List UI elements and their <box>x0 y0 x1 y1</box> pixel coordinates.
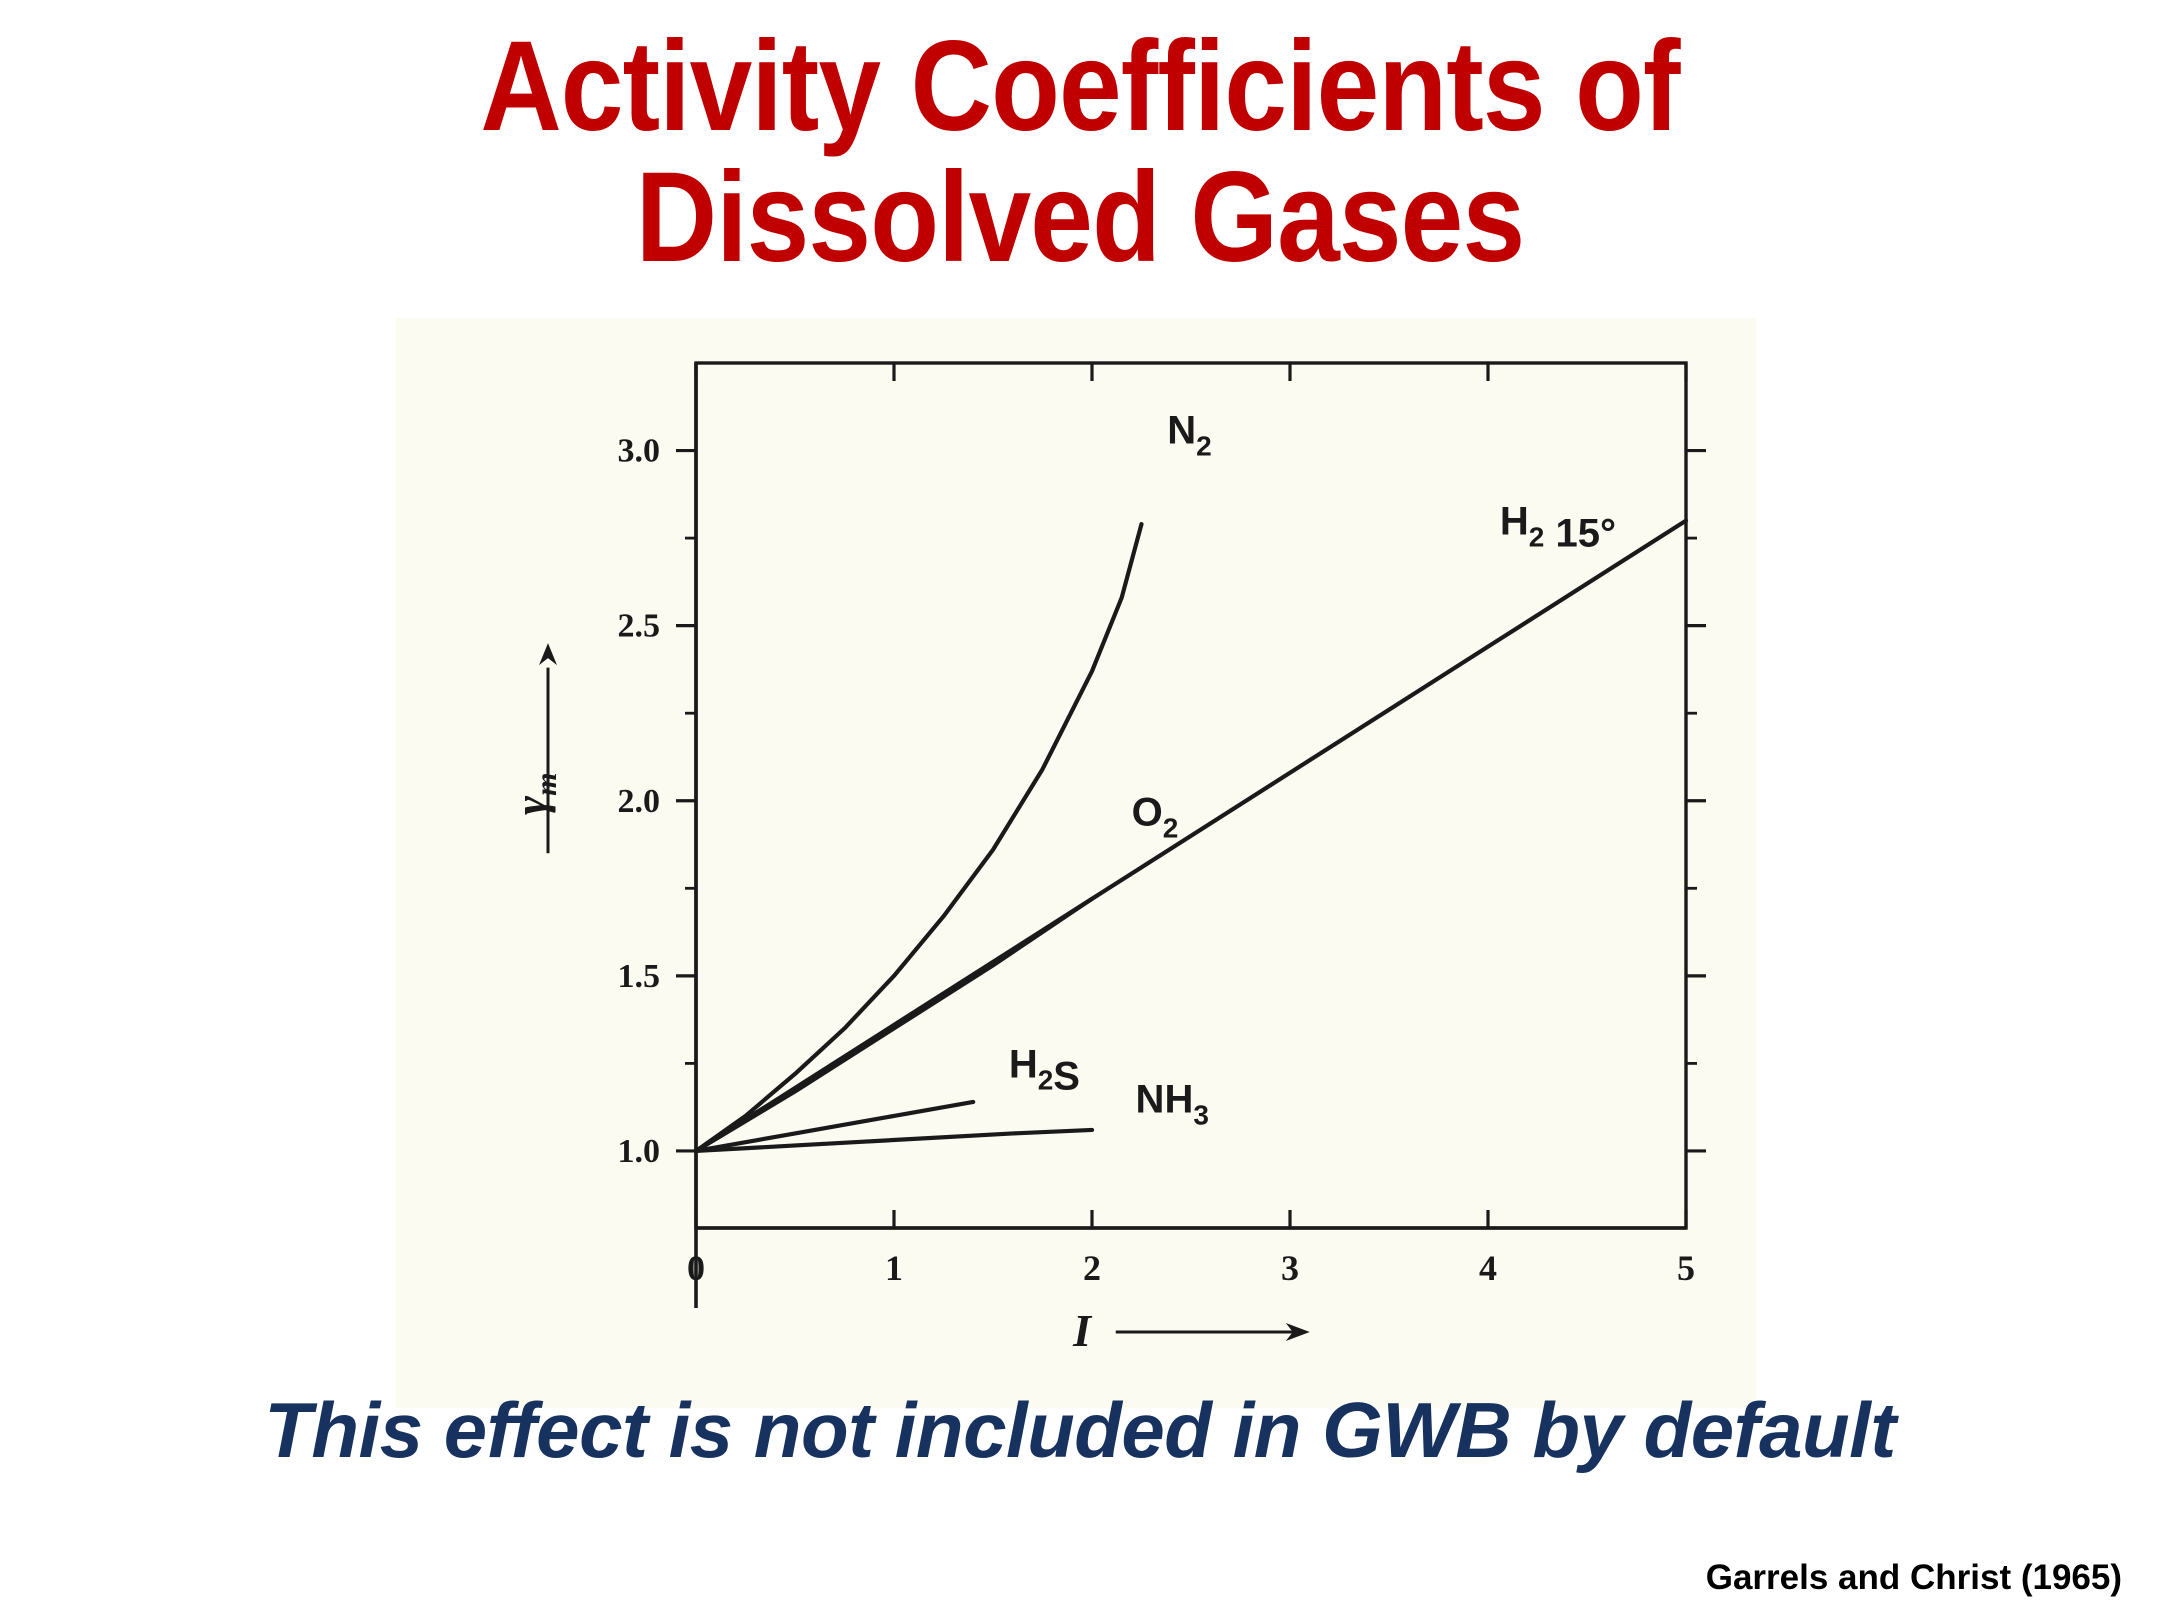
source-citation: Garrels and Christ (1965) <box>1706 1558 2122 1598</box>
chart-figure: 1.01.52.02.53.0012345γmIN2H2 15°O2H2SNH3 <box>396 318 1756 1408</box>
svg-text:NH3: NH3 <box>1136 1077 1209 1130</box>
series-label-N2: N2 <box>1167 409 1211 462</box>
activity-coefficient-chart: 1.01.52.02.53.0012345γmIN2H2 15°O2H2SNH3 <box>396 318 1756 1408</box>
y-tick-label: 2.5 <box>618 608 661 645</box>
svg-text:H2S: H2S <box>1009 1042 1080 1098</box>
y-tick-label: 1.5 <box>618 958 661 995</box>
x-tick-label: 2 <box>1083 1248 1101 1288</box>
y-tick-label: 1.0 <box>618 1133 661 1170</box>
y-axis-arrow-head <box>539 643 557 665</box>
series-label-O2: O2 <box>1132 790 1179 843</box>
y-axis-label: γm <box>505 773 563 815</box>
series-label-H2: H2 15° <box>1500 500 1616 556</box>
series-line-H2 <box>696 521 1686 1151</box>
x-tick-label: 0 <box>687 1248 705 1288</box>
svg-text:H2 15°: H2 15° <box>1500 500 1616 556</box>
svg-text:O2: O2 <box>1132 790 1179 843</box>
x-tick-label: 1 <box>885 1248 903 1288</box>
x-tick-label: 5 <box>1677 1248 1695 1288</box>
slide-canvas: Activity Coefficients of Dissolved Gases… <box>0 0 2160 1620</box>
series-label-NH3: NH3 <box>1136 1077 1209 1130</box>
conclusion-statement: This effect is not included in GWB by de… <box>0 1385 2160 1476</box>
x-tick-label: 4 <box>1479 1248 1497 1288</box>
y-tick-label: 3.0 <box>618 433 661 470</box>
x-axis-label: I <box>1072 1305 1093 1356</box>
series-label-H2S: H2S <box>1009 1042 1080 1098</box>
x-tick-label: 3 <box>1281 1248 1299 1288</box>
svg-text:N2: N2 <box>1167 409 1211 462</box>
page-title: Activity Coefficients of Dissolved Gases <box>130 22 2031 283</box>
y-tick-label: 2.0 <box>618 783 661 820</box>
svg-text:γm: γm <box>505 773 563 815</box>
